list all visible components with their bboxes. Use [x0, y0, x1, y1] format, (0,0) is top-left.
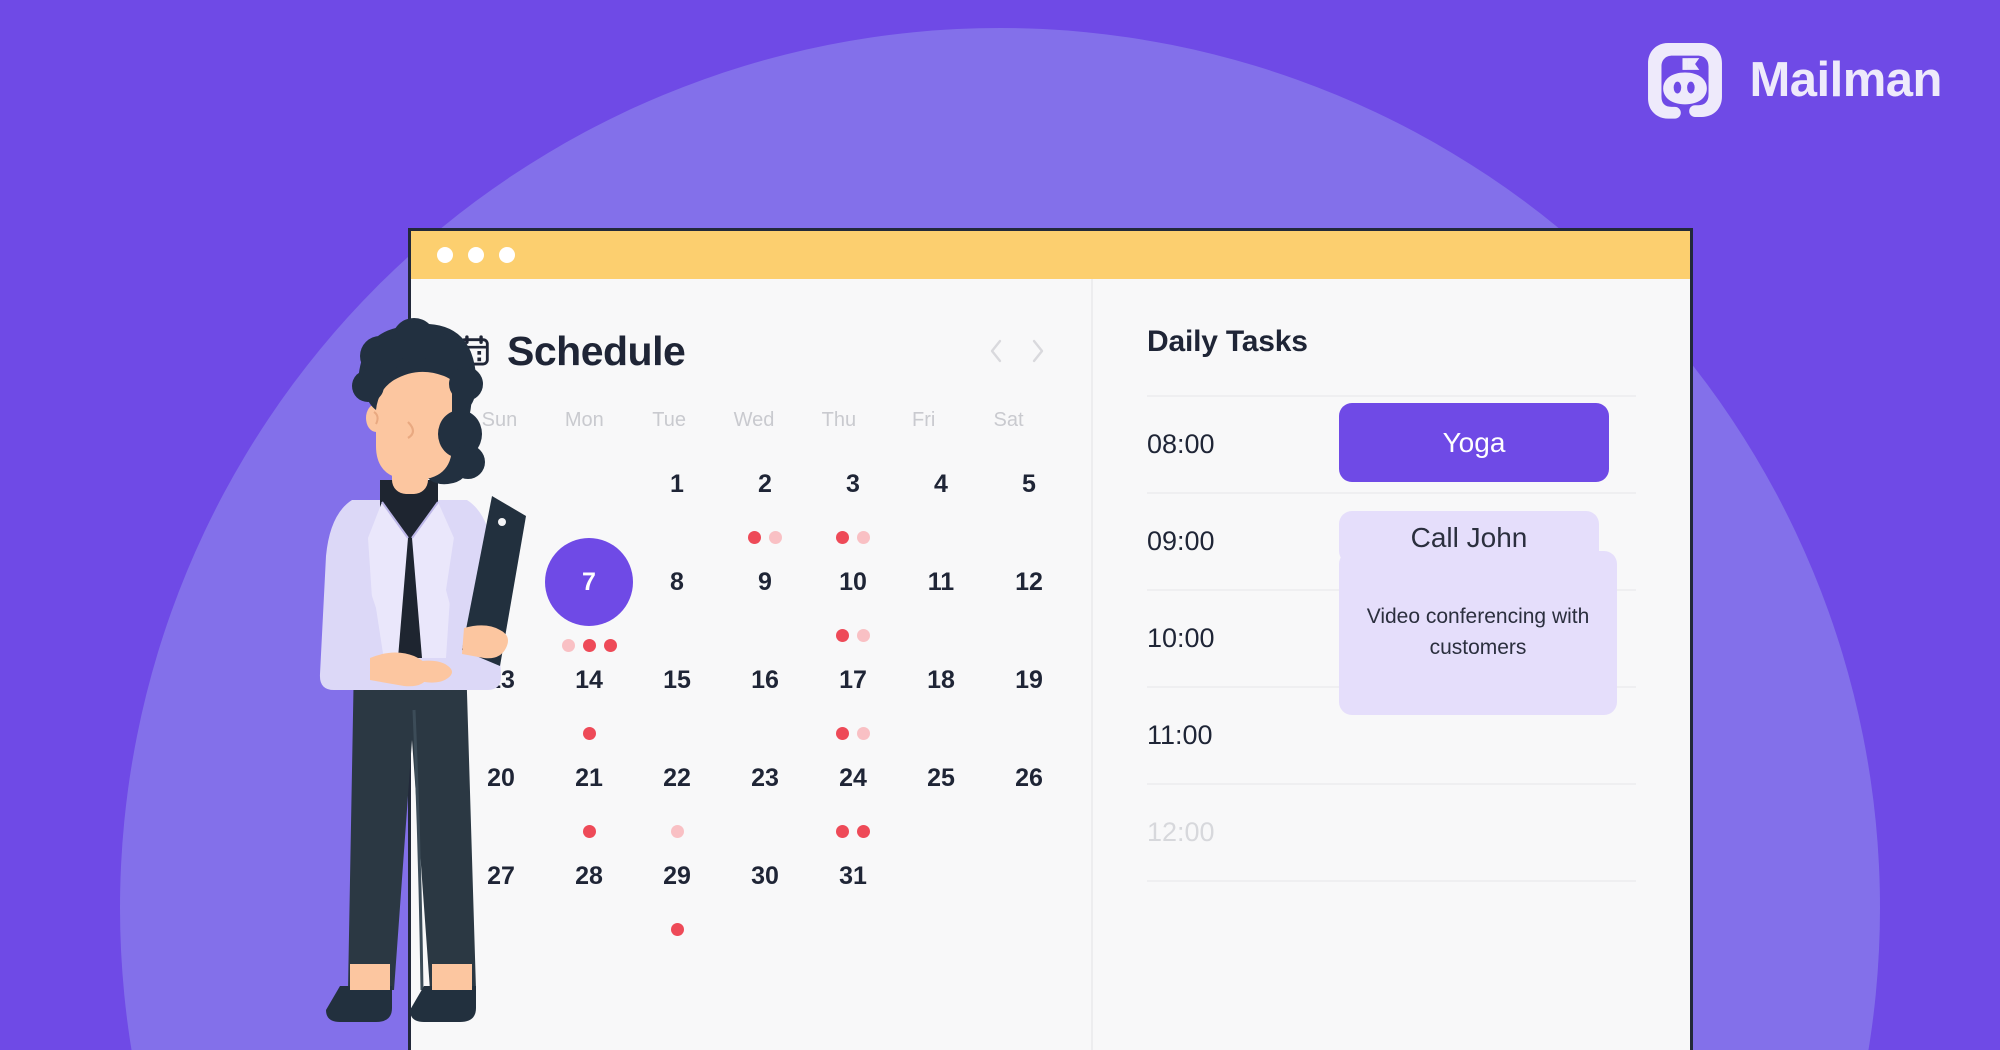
calendar-grid: 1234567891011121314151617181920212223242…: [457, 440, 1051, 930]
calendar-day-cell[interactable]: 9: [721, 538, 809, 636]
next-month-button[interactable]: [1025, 334, 1051, 368]
traffic-light-close[interactable]: [437, 247, 453, 263]
calendar-day-number[interactable]: 26: [985, 734, 1073, 822]
calendar-day-cell[interactable]: 5: [985, 440, 1073, 538]
calendar-day-cell[interactable]: 1: [633, 440, 721, 538]
brand-logo: Mailman: [1643, 38, 1942, 122]
time-slot-label: 12:00: [1147, 817, 1215, 848]
calendar-day-number[interactable]: 18: [897, 636, 985, 724]
calendar-day-number[interactable]: 2: [721, 440, 809, 528]
calendar-nav: [983, 334, 1051, 368]
page-root: Mailman: [0, 0, 2000, 1050]
calendar-day-number[interactable]: 24: [809, 734, 897, 822]
event-dot-group: [671, 923, 684, 936]
calendar-header: Schedule: [457, 323, 1051, 379]
calendar-day-number[interactable]: 16: [721, 636, 809, 724]
calendar-day-cell[interactable]: 28: [545, 832, 633, 930]
woman-with-tablet-illustration: [296, 310, 526, 1050]
calendar-day-cell[interactable]: 21: [545, 734, 633, 832]
time-slot-label: 08:00: [1147, 429, 1215, 460]
calendar-empty-cell: [545, 440, 633, 538]
calendar-day-cell[interactable]: 22: [633, 734, 721, 832]
time-slot-label: 11:00: [1147, 720, 1213, 751]
calendar-day-number[interactable]: 30: [721, 832, 809, 920]
calendar-day-cell[interactable]: 29: [633, 832, 721, 930]
calendar-day-number[interactable]: 5: [985, 440, 1073, 528]
calendar-day-number[interactable]: 14: [545, 636, 633, 724]
time-slot-label: 09:00: [1147, 526, 1215, 557]
calendar-day-number[interactable]: 1: [633, 440, 721, 528]
page-title: Schedule: [507, 328, 685, 375]
time-slot-row[interactable]: 12:00: [1147, 783, 1636, 882]
weekday-label-tue: Tue: [627, 409, 712, 432]
weekday-label-wed: Wed: [712, 409, 797, 432]
prev-month-button[interactable]: [983, 334, 1009, 368]
calendar-day-cell[interactable]: 15: [633, 636, 721, 734]
calendar-day-cell[interactable]: 24: [809, 734, 897, 832]
calendar-day-number[interactable]: 4: [897, 440, 985, 528]
calendar-day-number: [897, 832, 985, 920]
calendar-day-cell[interactable]: 2: [721, 440, 809, 538]
weekday-label-sat: Sat: [966, 409, 1051, 432]
bottom-fade: [1093, 978, 1690, 1050]
calendar-day-cell[interactable]: 19: [985, 636, 1073, 734]
chevron-left-icon: [988, 338, 1004, 364]
calendar-day-cell[interactable]: 3: [809, 440, 897, 538]
traffic-light-minimize[interactable]: [468, 247, 484, 263]
calendar-day-cell[interactable]: 10: [809, 538, 897, 636]
weekday-label-fri: Fri: [881, 409, 966, 432]
calendar-day-cell[interactable]: 31: [809, 832, 897, 930]
calendar-day-number[interactable]: 29: [633, 832, 721, 920]
time-slot-label: 10:00: [1147, 623, 1215, 654]
calendar-day-number[interactable]: 12: [985, 538, 1073, 626]
calendar-day-number[interactable]: 11: [897, 538, 985, 626]
task-event-card[interactable]: Yoga: [1339, 403, 1609, 482]
calendar-empty-cell: [985, 832, 1073, 930]
calendar-day-cell[interactable]: 14: [545, 636, 633, 734]
weekday-header-row: SunMonTueWedThuFriSat: [457, 409, 1051, 432]
calendar-day-number[interactable]: 19: [985, 636, 1073, 724]
calendar-day-number[interactable]: 25: [897, 734, 985, 822]
window-body: Schedule SunMo: [411, 279, 1690, 1050]
calendar-day-cell[interactable]: 11: [897, 538, 985, 636]
daily-tasks-pane: Daily Tasks 08:0009:0010:0011:0012:00 Yo…: [1093, 279, 1690, 1050]
calendar-day-number[interactable]: 23: [721, 734, 809, 822]
traffic-light-maximize[interactable]: [499, 247, 515, 263]
calendar-day-cell[interactable]: 16: [721, 636, 809, 734]
calendar-day-number[interactable]: 28: [545, 832, 633, 920]
calendar-day-number[interactable]: 15: [633, 636, 721, 724]
calendar-day-cell[interactable]: 23: [721, 734, 809, 832]
weekday-label-mon: Mon: [542, 409, 627, 432]
time-slot-list: 08:0009:0010:0011:0012:00 YogaCall JohnV…: [1147, 395, 1636, 882]
calendar-day-number[interactable]: 7: [545, 538, 633, 626]
window-titlebar: [411, 231, 1690, 279]
calendar-day-cell[interactable]: 17: [809, 636, 897, 734]
calendar-day-number[interactable]: 31: [809, 832, 897, 920]
calendar-day-cell[interactable]: 30: [721, 832, 809, 930]
calendar-day-cell[interactable]: 8: [633, 538, 721, 636]
weekday-label-thu: Thu: [796, 409, 881, 432]
task-event-card[interactable]: Video conferencing with customers: [1339, 551, 1617, 715]
brand-name: Mailman: [1749, 52, 1942, 108]
calendar-day-cell[interactable]: 7: [545, 538, 633, 636]
calendar-day-cell[interactable]: 4: [897, 440, 985, 538]
app-window: Schedule SunMo: [408, 228, 1693, 1050]
calendar-day-cell[interactable]: 12: [985, 538, 1073, 636]
calendar-day-cell[interactable]: 26: [985, 734, 1073, 832]
calendar-day-number[interactable]: 8: [633, 538, 721, 626]
daily-tasks-title: Daily Tasks: [1147, 325, 1636, 359]
calendar-day-cell[interactable]: 25: [897, 734, 985, 832]
calendar-day-number[interactable]: 3: [809, 440, 897, 528]
calendar-day-cell[interactable]: 18: [897, 636, 985, 734]
calendar-day-number[interactable]: 22: [633, 734, 721, 822]
event-dot: [671, 923, 684, 936]
calendar-day-number[interactable]: 17: [809, 636, 897, 724]
calendar-day-number[interactable]: 10: [809, 538, 897, 626]
calendar-day-number: [545, 440, 633, 528]
calendar-day-number: [985, 832, 1073, 920]
calendar-empty-cell: [897, 832, 985, 930]
calendar-day-number[interactable]: 21: [545, 734, 633, 822]
mailman-mascot-icon: [1643, 38, 1727, 122]
calendar-day-number[interactable]: 9: [721, 538, 809, 626]
chevron-right-icon: [1030, 338, 1046, 364]
